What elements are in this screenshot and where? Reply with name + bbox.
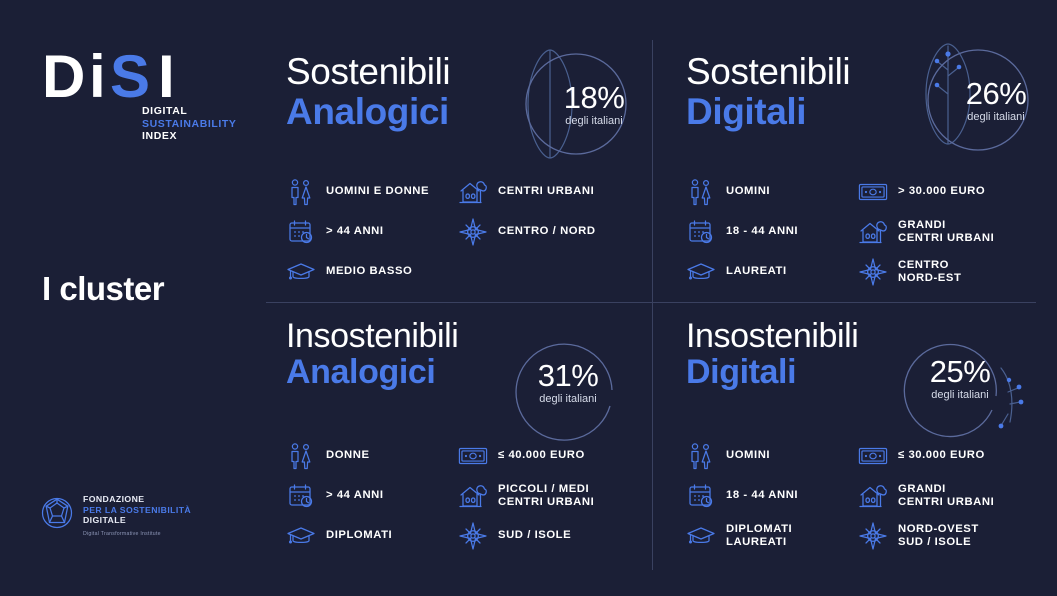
quadrant-heading-line2: Analogici <box>286 354 646 390</box>
compass-icon <box>858 521 888 551</box>
attribute-label-line1: NORD-OVEST <box>898 523 979 535</box>
compass-icon <box>458 217 488 247</box>
foundation-logo-text: FONDAZIONE PER LA SOSTENIBILITÀ DIGITALE… <box>83 492 191 539</box>
attribute-item: SUD / ISOLE <box>458 516 646 556</box>
compass-icon <box>458 521 488 551</box>
calendar-clock-icon <box>286 481 316 511</box>
foundation-logo: FONDAZIONE PER LA SOSTENIBILITÀ DIGITALE… <box>40 492 191 539</box>
attribute-label-line2: CENTRI URBANI <box>898 496 994 510</box>
attribute-grid: UOMINI > 30.000 EURO <box>686 172 1046 292</box>
attribute-label-line1: GRANDI <box>898 219 946 231</box>
house-tree-icon <box>458 177 488 207</box>
graduation-cap-icon <box>686 257 716 287</box>
logo-subtitle-index: INDEX <box>142 130 237 143</box>
calendar-clock-icon <box>286 217 316 247</box>
disi-logo: D i S I DIGITAL SUSTAINABILITY INDEX <box>42 48 212 106</box>
attribute-label-line2: NORD-EST <box>898 272 961 286</box>
quadrant-heading: Sostenibili Analogici <box>286 52 646 132</box>
attribute-item: > 30.000 EURO <box>858 172 1046 212</box>
quadrant-heading: Insostenibili Analogici <box>286 318 646 390</box>
attribute-item: > 44 ANNI <box>286 212 458 252</box>
attribute-label-line1: DIPLOMATI <box>726 523 792 535</box>
attribute-item: UOMINI E DONNE <box>286 172 458 212</box>
attribute-label: SUD / ISOLE <box>498 529 571 543</box>
attribute-label: ≤ 30.000 EURO <box>898 449 985 463</box>
logo-letter-i2: I <box>158 48 174 106</box>
people-icon <box>686 177 716 207</box>
attribute-item: PICCOLI / MEDI CENTRI URBANI <box>458 476 646 516</box>
attribute-label-line1: CENTRO <box>898 259 949 271</box>
logo-subtitle-digital: DIGITAL <box>142 105 237 118</box>
attribute-label: GRANDI CENTRI URBANI <box>898 219 994 246</box>
logo-letter-s: S <box>110 48 149 106</box>
people-icon <box>286 441 316 471</box>
house-tree-icon <box>858 217 888 247</box>
percent-caption: degli italiani <box>539 393 596 405</box>
attribute-label: CENTRI URBANI <box>498 185 594 199</box>
attribute-item: UOMINI <box>686 172 858 212</box>
foundation-line-3: DIGITALE <box>83 515 191 526</box>
attribute-grid: UOMINI E DONNE CENTRI URBANI <box>286 172 646 292</box>
quadrant-heading: Sostenibili Digitali <box>686 52 1046 132</box>
attribute-label: > 44 ANNI <box>326 489 384 503</box>
percent-caption: degli italiani <box>931 389 988 401</box>
attribute-label: UOMINI <box>726 449 770 463</box>
attribute-item: CENTRO NORD-EST <box>858 252 1046 292</box>
attribute-label: > 44 ANNI <box>326 225 384 239</box>
infographic-root: D i S I DIGITAL SUSTAINABILITY INDEX I c… <box>0 0 1057 596</box>
graduation-cap-icon <box>286 521 316 551</box>
quadrant-heading-line1: Insostenibili <box>686 318 1046 354</box>
quadrant-insostenibili-digitali: 25% degli italiani Insostenibili Digital… <box>686 318 1046 566</box>
attribute-label-line1: GRANDI <box>898 483 946 495</box>
people-icon <box>686 441 716 471</box>
calendar-clock-icon <box>686 217 716 247</box>
quadrant-heading-line2: Digitali <box>686 92 1046 132</box>
graduation-cap-icon <box>686 521 716 551</box>
quadrant-heading-line1: Insostenibili <box>286 318 646 354</box>
attribute-label: DONNE <box>326 449 370 463</box>
attribute-item: 18 - 44 ANNI <box>686 212 858 252</box>
people-icon <box>286 177 316 207</box>
attribute-label: MEDIO BASSO <box>326 265 412 279</box>
attribute-label: LAUREATI <box>726 265 787 279</box>
quadrant-heading-line1: Sostenibili <box>286 52 646 92</box>
attribute-label-line1: PICCOLI / MEDI <box>498 483 589 495</box>
attribute-label: GRANDI CENTRI URBANI <box>898 483 994 510</box>
attribute-grid: UOMINI ≤ 30.000 EURO <box>686 436 1046 556</box>
attribute-item: LAUREATI <box>686 252 858 292</box>
page-title: I cluster <box>42 270 164 308</box>
attribute-label: NORD-OVEST SUD / ISOLE <box>898 523 979 550</box>
disi-logo-subtitle: DIGITAL SUSTAINABILITY INDEX <box>142 105 237 143</box>
attribute-label: UOMINI <box>726 185 770 199</box>
attribute-label: DIPLOMATI <box>326 529 392 543</box>
attribute-label-line2: CENTRI URBANI <box>498 496 594 510</box>
quadrant-heading-line1: Sostenibili <box>686 52 1046 92</box>
left-column: D i S I DIGITAL SUSTAINABILITY INDEX I c… <box>0 0 262 596</box>
attribute-item: DIPLOMATI <box>286 516 458 556</box>
divider-horizontal <box>266 302 1036 303</box>
attribute-item: CENTRI URBANI <box>458 172 646 212</box>
attribute-label: DIPLOMATI LAUREATI <box>726 523 792 550</box>
disi-logo-wordmark: D i S I <box>42 48 212 106</box>
attribute-item: GRANDI CENTRI URBANI <box>858 212 1046 252</box>
attribute-grid: DONNE ≤ 40.000 EURO <box>286 436 646 556</box>
quadrant-insostenibili-analogici: 31% degli italiani Insostenibili Analogi… <box>286 318 646 566</box>
attribute-item: > 44 ANNI <box>286 476 458 516</box>
house-tree-icon <box>458 481 488 511</box>
foundation-emblem-icon <box>40 496 74 535</box>
attribute-item: MEDIO BASSO <box>286 252 458 292</box>
attribute-item: 18 - 44 ANNI <box>686 476 858 516</box>
attribute-label: UOMINI E DONNE <box>326 185 429 199</box>
attribute-label: 18 - 44 ANNI <box>726 225 798 239</box>
attribute-label: CENTRO / NORD <box>498 225 596 239</box>
attribute-label: > 30.000 EURO <box>898 185 985 199</box>
attribute-item: GRANDI CENTRI URBANI <box>858 476 1046 516</box>
attribute-placeholder <box>458 252 646 292</box>
foundation-line-1: FONDAZIONE <box>83 494 191 505</box>
logo-letter-d: D <box>42 48 84 106</box>
foundation-tagline: Digital Transformative Institute <box>83 529 191 540</box>
compass-icon <box>858 257 888 287</box>
attribute-label: 18 - 44 ANNI <box>726 489 798 503</box>
quadrant-heading-line2: Analogici <box>286 92 646 132</box>
quadrant-sostenibili-digitali: 26% degli italiani Sostenibili Digitali … <box>686 52 1046 300</box>
foundation-line-2: PER LA SOSTENIBILITÀ <box>83 505 191 516</box>
attribute-label-line2: CENTRI URBANI <box>898 232 994 246</box>
attribute-item: DONNE <box>286 436 458 476</box>
attribute-label-line2: SUD / ISOLE <box>898 536 979 550</box>
attribute-label: PICCOLI / MEDI CENTRI URBANI <box>498 483 594 510</box>
attribute-item: NORD-OVEST SUD / ISOLE <box>858 516 1046 556</box>
graduation-cap-icon <box>286 257 316 287</box>
logo-letter-i: i <box>89 48 105 106</box>
quadrant-sostenibili-analogici: 18% degli italiani Sostenibili Analogici… <box>286 52 646 300</box>
quadrant-heading: Insostenibili Digitali <box>686 318 1046 390</box>
attribute-item: DIPLOMATI LAUREATI <box>686 516 858 556</box>
house-tree-icon <box>858 481 888 511</box>
banknote-icon <box>858 177 888 207</box>
quadrant-heading-line2: Digitali <box>686 354 1046 390</box>
attribute-item: UOMINI <box>686 436 858 476</box>
banknote-icon <box>458 441 488 471</box>
calendar-clock-icon <box>686 481 716 511</box>
banknote-icon <box>858 441 888 471</box>
attribute-label: ≤ 40.000 EURO <box>498 449 585 463</box>
attribute-label-line2: LAUREATI <box>726 536 792 550</box>
attribute-label: CENTRO NORD-EST <box>898 259 961 286</box>
attribute-item: CENTRO / NORD <box>458 212 646 252</box>
logo-subtitle-sustainability: SUSTAINABILITY <box>142 118 237 131</box>
